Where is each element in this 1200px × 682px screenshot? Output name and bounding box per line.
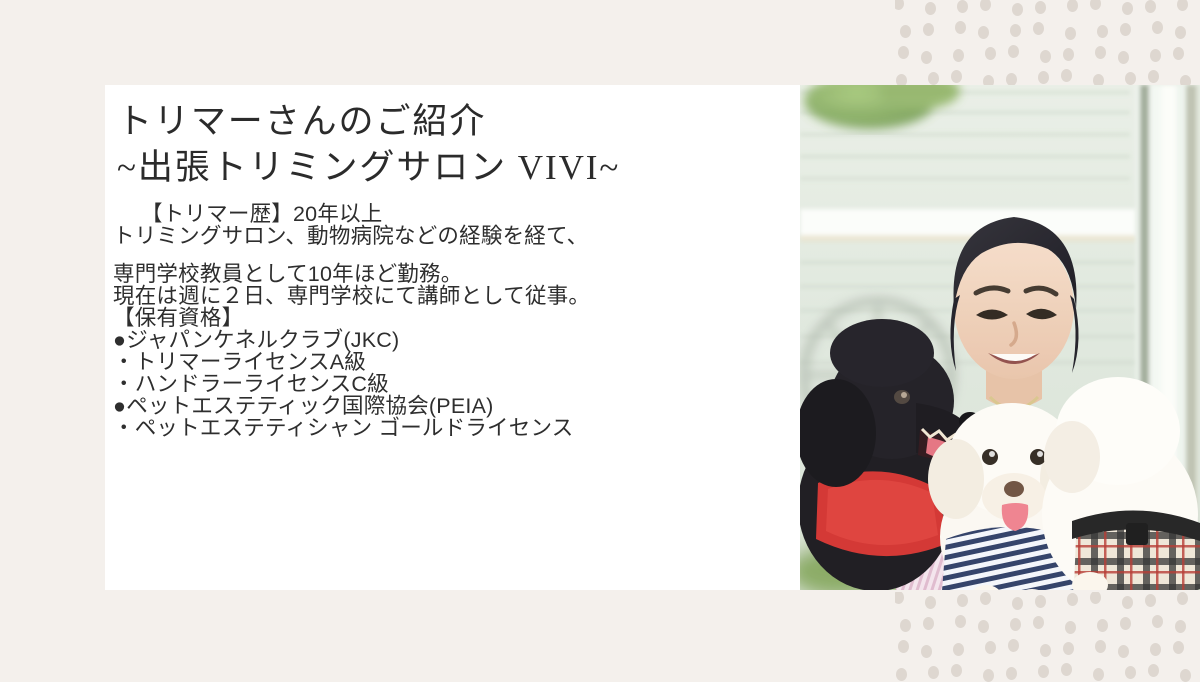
career-detail: トリミングサロン、動物病院などの経験を経て、 <box>113 225 793 247</box>
dot-pattern-bottom-right <box>895 592 1200 682</box>
decor-dot <box>951 664 962 677</box>
decor-dot <box>1177 0 1188 11</box>
decor-dot <box>953 643 964 656</box>
decor-dot <box>1118 645 1129 658</box>
decor-dot <box>957 0 968 13</box>
decor-dot <box>898 640 909 653</box>
decor-dot <box>925 596 936 609</box>
decor-dot <box>898 46 909 59</box>
decor-dot <box>1063 48 1074 61</box>
decor-dot <box>1095 46 1106 59</box>
decor-dot <box>1061 663 1072 676</box>
decor-dot <box>1145 594 1156 607</box>
list-item: ・ペットエステティシャン ゴールドライセンス <box>113 417 793 439</box>
decor-dot <box>900 619 911 632</box>
decor-dot <box>1173 641 1184 654</box>
dot-pattern-top-right <box>895 0 1200 86</box>
decor-dot <box>1118 51 1129 64</box>
decor-dot <box>1063 642 1074 655</box>
decor-dot <box>1008 45 1019 58</box>
decor-dot <box>923 617 934 630</box>
decor-dot <box>1150 643 1161 656</box>
decor-dot <box>1067 593 1078 606</box>
career-heading: 【トリマー歴】20年以上 <box>113 203 793 225</box>
decor-dot <box>953 49 964 62</box>
decor-dot <box>1012 3 1023 16</box>
decor-dot <box>1010 618 1021 631</box>
decor-dot <box>928 72 939 85</box>
qualifications-list: ●ジャパンケネルクラブ(JKC) ・トリマーライセンスA級 ・ハンドラーライセン… <box>113 329 793 439</box>
decor-dot <box>978 620 989 633</box>
decor-dot <box>1061 69 1072 82</box>
decor-dot <box>895 592 904 604</box>
decor-dot <box>1173 47 1184 60</box>
decor-dot <box>985 641 996 654</box>
teaching-group: 専門学校教員として10年ほど勤務。 現在は週に２日、専門学校にて講師として従事。… <box>113 263 793 329</box>
title-line-2: ~出張トリミングサロン VIVI~ <box>117 145 787 191</box>
qualifications-heading: 【保有資格】 <box>113 307 793 329</box>
decor-dot <box>1008 639 1019 652</box>
decor-dot <box>921 51 932 64</box>
page-title: トリマーさんのご紹介 ~出張トリミングサロン VIVI~ <box>117 99 787 191</box>
decor-dot <box>900 25 911 38</box>
decor-dot <box>1125 666 1136 679</box>
decor-dot <box>955 21 966 34</box>
decor-dot <box>1040 644 1051 657</box>
list-item: ・トリマーライセンスA級 <box>113 351 793 373</box>
decor-dot <box>921 645 932 658</box>
list-item: ●ジャパンケネルクラブ(JKC) <box>113 329 793 351</box>
decor-dot <box>1012 597 1023 610</box>
decor-dot <box>923 23 934 36</box>
decor-dot <box>1145 0 1156 13</box>
decor-dot <box>1152 615 1163 628</box>
decor-dot <box>1038 665 1049 678</box>
decor-dot <box>1148 664 1159 677</box>
decor-dot <box>955 615 966 628</box>
decor-dot <box>1033 22 1044 35</box>
decor-dot <box>1065 27 1076 40</box>
decor-dot <box>1035 595 1046 608</box>
decor-dot <box>1090 0 1101 10</box>
decor-dot <box>978 26 989 39</box>
decor-dot <box>1040 50 1051 63</box>
decor-dot <box>1175 26 1186 39</box>
decor-dot <box>1150 49 1161 62</box>
decor-dot <box>1177 592 1188 605</box>
list-item: ●ペットエステティック国際協会(PEIA) <box>113 395 793 417</box>
body-text: 【トリマー歴】20年以上 トリミングサロン、動物病院などの経験を経て、 専門学校… <box>113 203 793 439</box>
title-line-1: トリマーさんのご紹介 <box>117 99 787 145</box>
decor-dot <box>1033 616 1044 629</box>
decor-dot <box>1120 617 1131 630</box>
decor-dot <box>1035 1 1046 14</box>
decor-dot <box>1175 620 1186 633</box>
list-item: ・ハンドラーライセンスC級 <box>113 373 793 395</box>
spacer-1 <box>113 247 793 263</box>
decor-dot <box>1152 21 1163 34</box>
decor-dot <box>983 669 994 682</box>
career-group: 【トリマー歴】20年以上 トリミングサロン、動物病院などの経験を経て、 <box>113 203 793 247</box>
decor-dot <box>957 594 968 607</box>
decor-dot <box>1065 621 1076 634</box>
decor-dot <box>1097 619 1108 632</box>
decor-dot <box>1120 23 1131 36</box>
decor-dot <box>1148 70 1159 83</box>
teaching-line-1: 専門学校教員として10年ほど勤務。 <box>113 263 793 285</box>
teaching-line-2: 現在は週に２日、専門学校にて講師として従事。 <box>113 285 793 307</box>
decor-dot <box>1067 0 1078 12</box>
decor-dot <box>1097 25 1108 38</box>
decor-dot <box>1122 596 1133 609</box>
decor-dot <box>1122 2 1133 15</box>
decor-dot <box>928 666 939 679</box>
decor-dot <box>1180 669 1191 682</box>
content-card: トリマーさんのご紹介 ~出張トリミングサロン VIVI~ 【トリマー歴】20年以… <box>105 85 800 590</box>
decor-dot <box>1125 72 1136 85</box>
decor-dot <box>1010 24 1021 37</box>
decor-dot <box>895 0 904 10</box>
decor-dot <box>980 0 991 11</box>
decor-dot <box>951 70 962 83</box>
decor-dot <box>1095 640 1106 653</box>
decor-dot <box>1090 592 1101 604</box>
decor-dot <box>925 2 936 15</box>
decor-dot <box>980 592 991 605</box>
decor-dot <box>1038 71 1049 84</box>
decor-dot <box>985 47 996 60</box>
trimmer-photo <box>800 85 1200 590</box>
decor-dot <box>1006 667 1017 680</box>
